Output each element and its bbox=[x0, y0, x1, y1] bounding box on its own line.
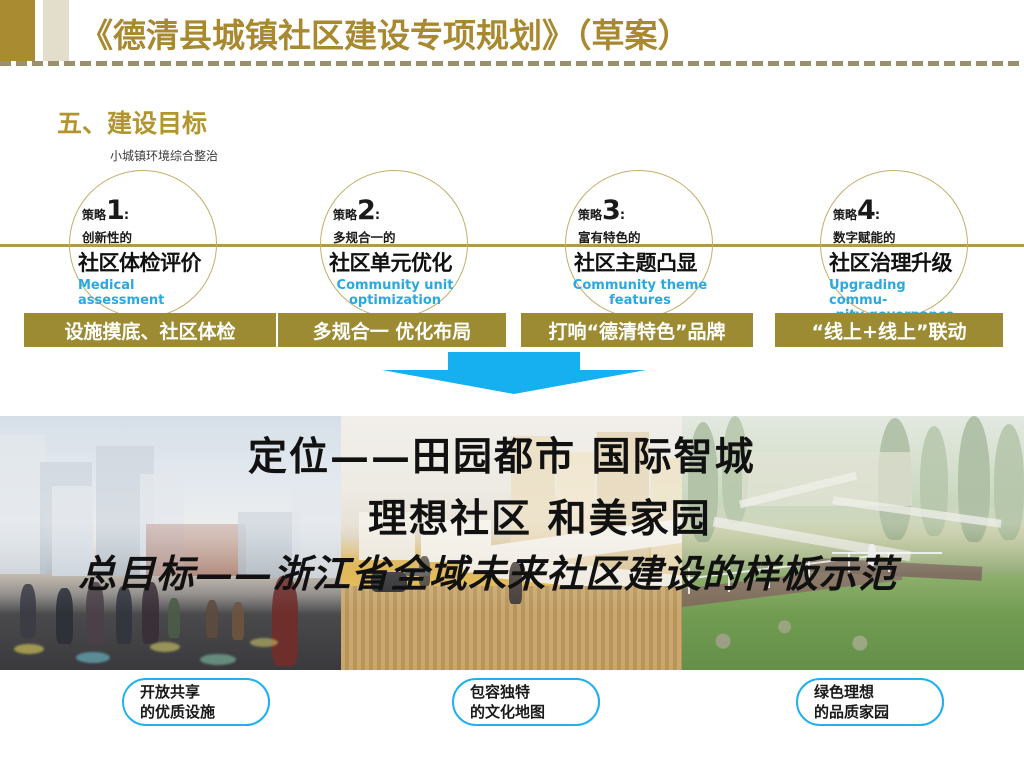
header-beige-bar bbox=[43, 0, 69, 62]
strategy-circle-4[interactable]: 策略4: 数字赋能的 社区治理升级 Upgrading commu- nity … bbox=[820, 170, 968, 318]
callout-3-line-1: 绿色理想 bbox=[814, 682, 942, 702]
strategy-4-colon: : bbox=[875, 208, 880, 223]
strategy-2-colon: : bbox=[375, 208, 380, 223]
strategy-1-number: 1 bbox=[106, 195, 124, 226]
strategy-1-english: Medical assessment bbox=[76, 279, 212, 309]
strategy-3-label: 策略 bbox=[578, 208, 602, 222]
strategy-bar-3[interactable]: 打响“德清特色”品牌 bbox=[521, 313, 753, 347]
photo-strip bbox=[0, 416, 1024, 670]
strategy-2-number: 2 bbox=[357, 195, 375, 226]
strategy-1-subtitle: 创新性的 bbox=[76, 227, 212, 246]
strategy-4-english-line1: Upgrading commu- bbox=[827, 279, 963, 309]
strategy-3-number: 3 bbox=[602, 195, 620, 226]
strategy-2-title: 社区单元优化 bbox=[327, 247, 463, 277]
strategy-2-label: 策略 bbox=[333, 208, 357, 222]
strategy-bar-2[interactable]: 多规合一 优化布局 bbox=[278, 313, 506, 347]
callout-2-line-1: 包容独特 bbox=[470, 682, 598, 702]
page-title: 《德清县城镇社区建设专项规划》（草案） bbox=[80, 9, 691, 57]
section-note: 小城镇环境综合整治 bbox=[110, 147, 218, 164]
strategy-2-number-row: 策略2: bbox=[327, 197, 463, 224]
strategy-1-label: 策略 bbox=[82, 208, 106, 222]
strategy-3-number-row: 策略3: bbox=[572, 197, 708, 224]
strategy-3-english-line1: Community theme bbox=[572, 279, 708, 294]
strategy-bar-4[interactable]: “线上+线上”联动 bbox=[775, 313, 1003, 347]
photo-wooden-deck bbox=[341, 416, 682, 670]
strategy-1-number-row: 策略1: bbox=[76, 197, 212, 224]
strategy-3-english-line2: features bbox=[572, 294, 708, 309]
strategy-2-subtitle: 多规合一的 bbox=[327, 227, 463, 246]
strategy-3-colon: : bbox=[620, 208, 625, 223]
callout-1-line-2: 的优质设施 bbox=[140, 702, 268, 722]
strategy-3-title: 社区主题凸显 bbox=[572, 247, 708, 277]
strategy-4-subtitle: 数字赋能的 bbox=[827, 227, 963, 246]
callout-green-quality[interactable]: 绿色理想 的品质家园 bbox=[796, 678, 944, 726]
strategy-2-english-line1: Community unit bbox=[327, 279, 463, 294]
section-heading: 五、建设目标 bbox=[57, 104, 207, 140]
down-arrow-icon bbox=[382, 352, 646, 394]
strategy-4-number-row: 策略4: bbox=[827, 197, 963, 224]
strategy-circle-1[interactable]: 策略1: 创新性的 社区体检评价 Medical assessment bbox=[69, 170, 217, 318]
callout-open-shared[interactable]: 开放共享 的优质设施 bbox=[122, 678, 270, 726]
header-dashed-divider bbox=[0, 61, 1024, 66]
strategy-4-number: 4 bbox=[857, 195, 875, 226]
strategy-circle-3[interactable]: 策略3: 富有特色的 社区主题凸显 Community theme featur… bbox=[565, 170, 713, 318]
callout-2-line-2: 的文化地图 bbox=[470, 702, 598, 722]
strategy-1-title: 社区体检评价 bbox=[76, 247, 212, 277]
strategy-4-title: 社区治理升级 bbox=[827, 247, 963, 277]
callout-3-line-2: 的品质家园 bbox=[814, 702, 942, 722]
strategy-2-english-line2: optimization bbox=[327, 294, 463, 309]
photo-green-park bbox=[682, 416, 1024, 670]
strategy-3-subtitle: 富有特色的 bbox=[572, 227, 708, 246]
strategy-1-colon: : bbox=[124, 208, 129, 223]
strategy-circle-2[interactable]: 策略2: 多规合一的 社区单元优化 Community unit optimiz… bbox=[320, 170, 468, 318]
strategy-4-label: 策略 bbox=[833, 208, 857, 222]
callout-1-line-1: 开放共享 bbox=[140, 682, 268, 702]
header-gold-bar bbox=[0, 0, 35, 62]
header-banner: 《德清县城镇社区建设专项规划》（草案） bbox=[0, 0, 1024, 62]
callout-inclusive-culture[interactable]: 包容独特 的文化地图 bbox=[452, 678, 600, 726]
strategy-bar-1[interactable]: 设施摸底、社区体检 bbox=[24, 313, 276, 347]
photo-urban-plaza bbox=[0, 416, 341, 670]
